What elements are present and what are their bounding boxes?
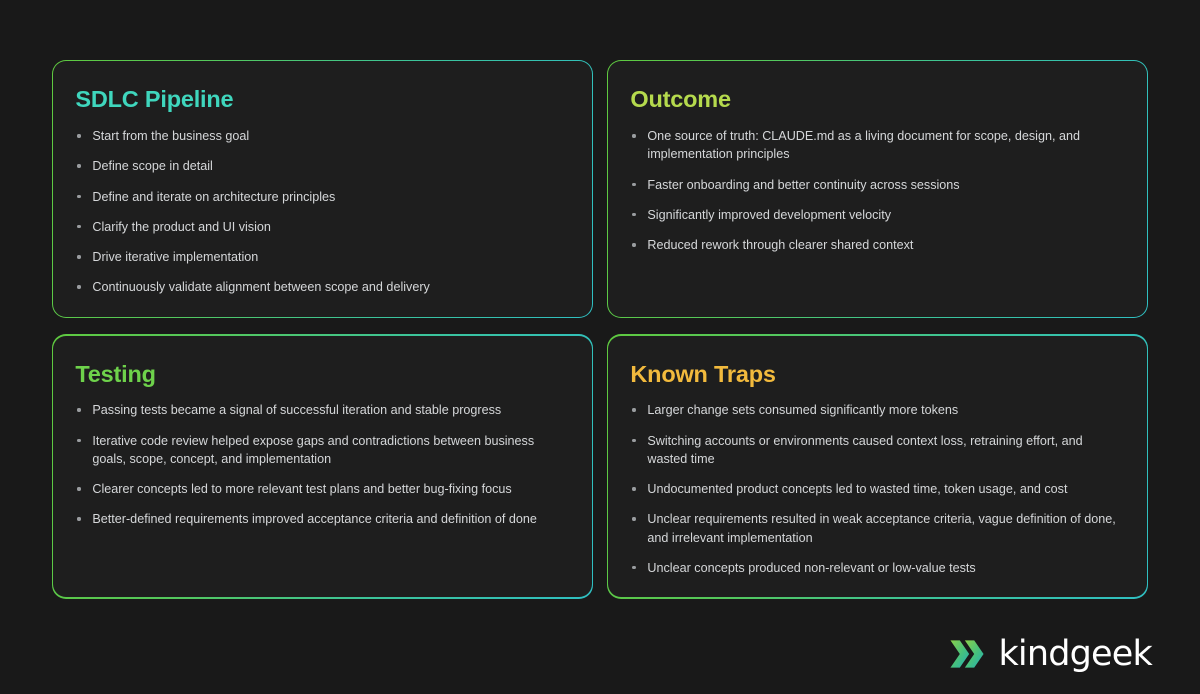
list-item: Unclear concepts produced non-relevant o… bbox=[630, 559, 1120, 577]
bullet-list-known-traps: Larger change sets consumed significantl… bbox=[630, 401, 1120, 577]
card-grid: SDLC Pipeline Start from the business go… bbox=[52, 60, 1148, 576]
slide-canvas: SDLC Pipeline Start from the business go… bbox=[0, 0, 1200, 694]
list-item: Undocumented product concepts led to was… bbox=[630, 480, 1120, 498]
list-item: One source of truth: CLAUDE.md as a livi… bbox=[630, 127, 1120, 164]
list-item: Larger change sets consumed significantl… bbox=[630, 401, 1120, 419]
bullet-list-outcome: One source of truth: CLAUDE.md as a livi… bbox=[630, 127, 1120, 254]
bullet-list-sdlc-pipeline: Start from the business goal Define scop… bbox=[75, 127, 565, 297]
list-item: Start from the business goal bbox=[75, 127, 565, 145]
card-title-sdlc-pipeline: SDLC Pipeline bbox=[75, 87, 565, 113]
card-body: Testing Passing tests became a signal of… bbox=[53, 336, 591, 598]
list-item: Clearer concepts led to more relevant te… bbox=[75, 480, 565, 498]
card-body: SDLC Pipeline Start from the business go… bbox=[53, 61, 591, 316]
list-item: Significantly improved development veloc… bbox=[630, 206, 1120, 224]
card-title-known-traps: Known Traps bbox=[630, 362, 1120, 388]
list-item: Better-defined requirements improved acc… bbox=[75, 510, 565, 528]
card-outcome: Outcome One source of truth: CLAUDE.md a… bbox=[607, 60, 1148, 318]
brand-logo: kindgeek bbox=[949, 636, 1152, 672]
list-item: Switching accounts or environments cause… bbox=[630, 432, 1120, 469]
bullet-list-testing: Passing tests became a signal of success… bbox=[75, 401, 565, 528]
card-sdlc-pipeline: SDLC Pipeline Start from the business go… bbox=[52, 60, 593, 318]
list-item: Reduced rework through clearer shared co… bbox=[630, 236, 1120, 254]
card-title-testing: Testing bbox=[75, 362, 565, 388]
card-testing: Testing Passing tests became a signal of… bbox=[52, 334, 593, 598]
list-item: Unclear requirements resulted in weak ac… bbox=[630, 510, 1120, 547]
card-title-outcome: Outcome bbox=[630, 87, 1120, 113]
card-body: Outcome One source of truth: CLAUDE.md a… bbox=[608, 61, 1146, 316]
brand-wordmark: kindgeek bbox=[998, 637, 1152, 672]
card-body: Known Traps Larger change sets consumed … bbox=[608, 336, 1146, 598]
list-item: Iterative code review helped expose gaps… bbox=[75, 432, 565, 469]
list-item: Clarify the product and UI vision bbox=[75, 218, 565, 236]
list-item: Continuously validate alignment between … bbox=[75, 278, 565, 296]
list-item: Define scope in detail bbox=[75, 157, 565, 175]
card-known-traps: Known Traps Larger change sets consumed … bbox=[607, 334, 1148, 598]
list-item: Faster onboarding and better continuity … bbox=[630, 176, 1120, 194]
list-item: Passing tests became a signal of success… bbox=[75, 401, 565, 419]
list-item: Define and iterate on architecture princ… bbox=[75, 188, 565, 206]
kindgeek-chevrons-icon bbox=[949, 636, 985, 672]
list-item: Drive iterative implementation bbox=[75, 248, 565, 266]
